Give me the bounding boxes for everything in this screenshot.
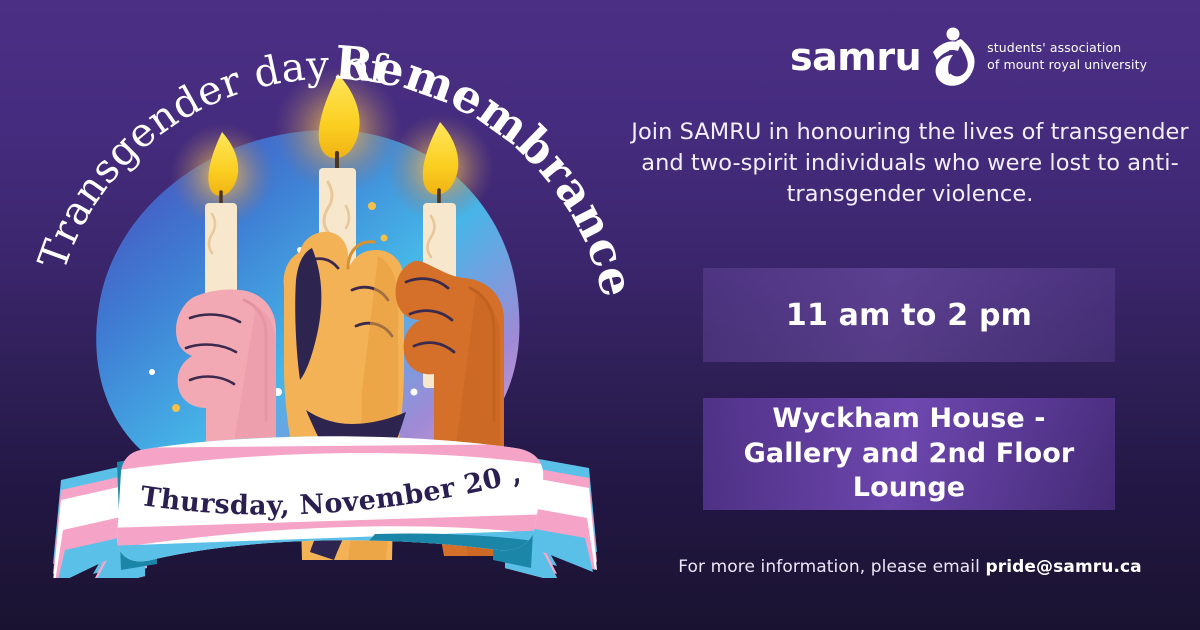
event-location-text: Wyckham House -Gallery and 2nd Floor Lou… [703, 402, 1115, 506]
samru-logo[interactable]: samru students' association of mount roy… [790, 26, 1147, 88]
date-ribbon-banner: Thursday, November 20 , 2025 [45, 418, 605, 588]
poster-canvas: Transgender day of Remembrance [0, 0, 1200, 630]
tagline-line-2: of mount royal university [987, 57, 1147, 72]
contact-footer: For more information, please email pride… [630, 557, 1190, 577]
info-column: samru students' association of mount roy… [620, 0, 1200, 630]
contact-email-link[interactable]: pride@samru.ca [985, 557, 1141, 577]
samru-tagline: students' association of mount royal uni… [987, 40, 1147, 74]
event-description: Join SAMRU in honouring the lives of tra… [630, 117, 1190, 210]
tagline-line-1: students' association [987, 40, 1121, 55]
event-time-panel: 11 am to 2 pm [703, 268, 1115, 362]
contact-lead-text: For more information, please email [678, 557, 985, 577]
event-location-panel: Wyckham House -Gallery and 2nd Floor Lou… [703, 398, 1115, 510]
samru-wordmark: samru [790, 38, 921, 76]
event-time-text: 11 am to 2 pm [786, 298, 1032, 333]
samru-figure-icon [931, 26, 977, 88]
